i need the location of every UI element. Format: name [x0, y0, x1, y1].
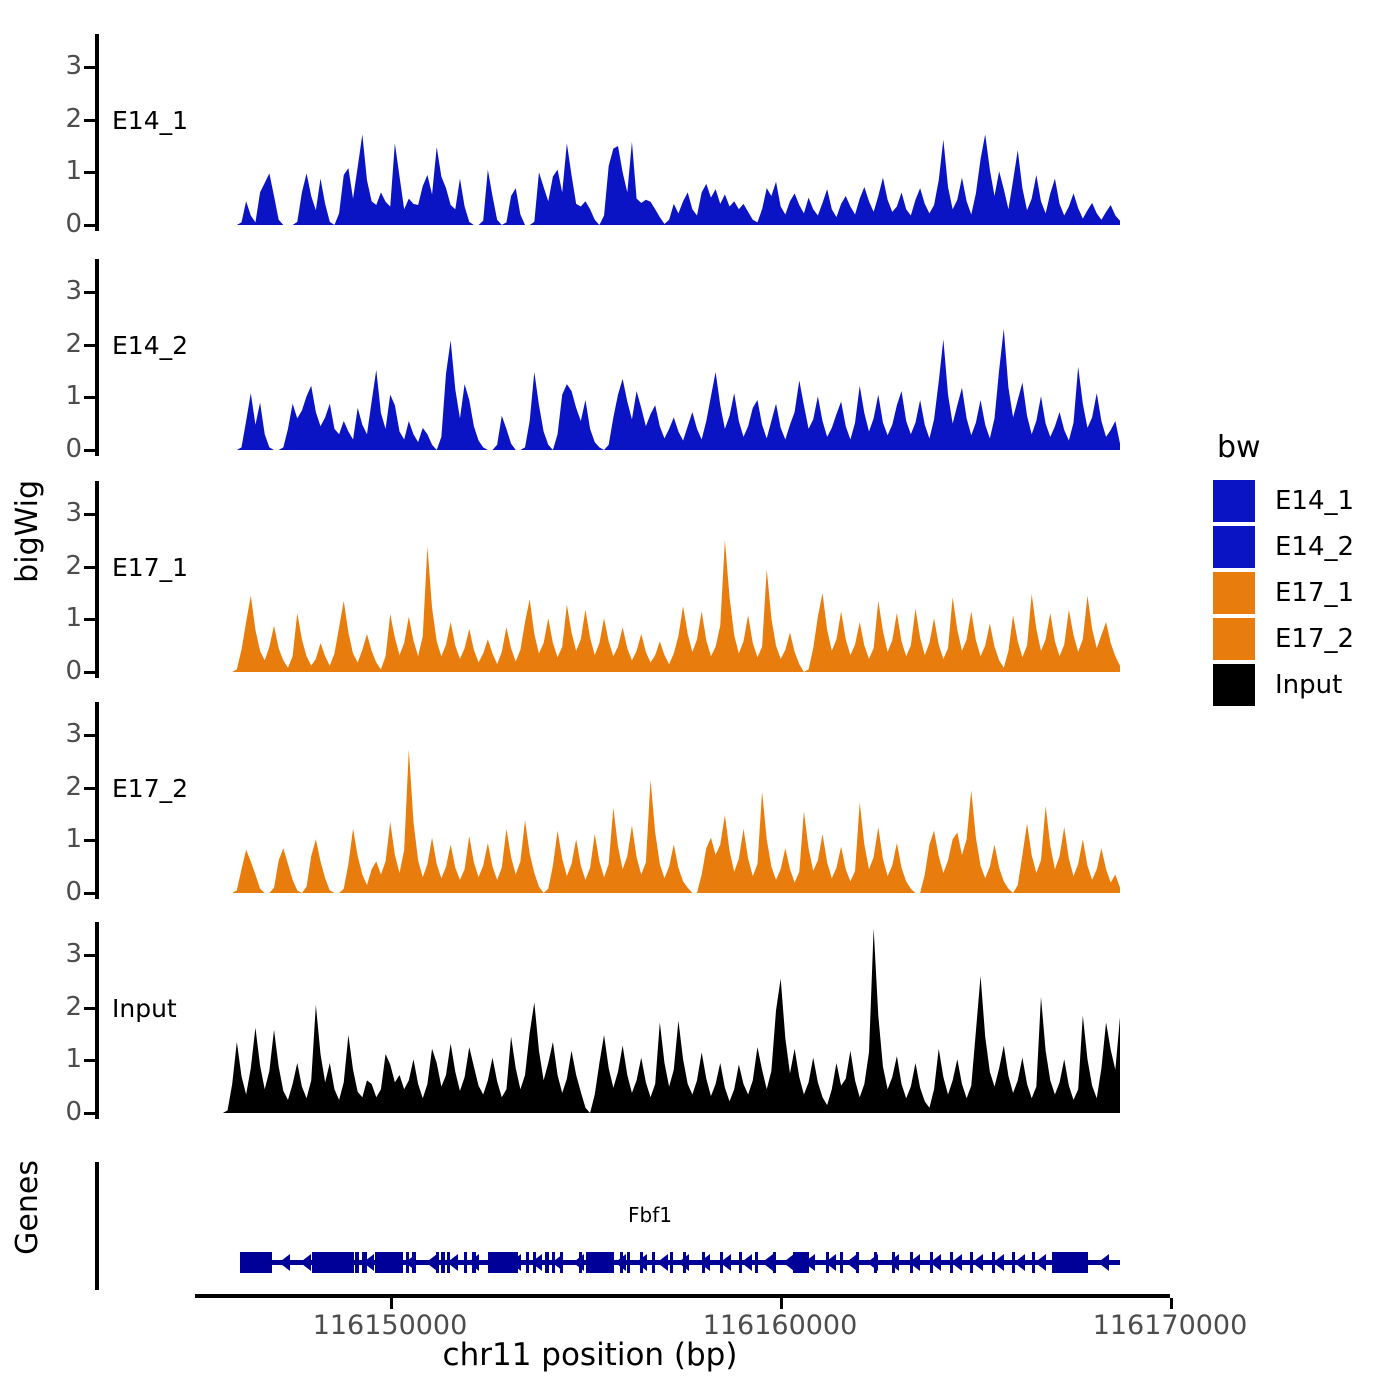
y-tick-label-e14_1-2: 2 [22, 106, 82, 132]
y-axis-title-bigwig: bigWig [10, 480, 45, 583]
y-tick-e14_2-3 [84, 291, 95, 294]
x-tick-116170000 [1170, 1298, 1173, 1309]
signal-track-e14_1[interactable] [195, 30, 1120, 229]
y-tick-e17_1-3 [84, 513, 95, 516]
x-tick-116160000 [780, 1298, 783, 1309]
gene-model-track[interactable] [240, 1246, 1120, 1284]
y-tick-e14_1-3 [84, 66, 95, 69]
legend-item-e14_1[interactable]: E14_1 [1213, 479, 1354, 523]
signal-track-e17_1[interactable] [195, 477, 1120, 676]
y-tick-label-e14_1-0: 0 [22, 211, 82, 237]
signal-track-input[interactable] [195, 918, 1120, 1117]
y-axis-line-input [95, 922, 99, 1119]
genes-axis-line [95, 1162, 99, 1290]
y-tick-e14_2-0 [84, 449, 95, 452]
legend: bw E14_1E14_2E17_1E17_2Input [1213, 430, 1354, 709]
y-tick-e14_2-2 [84, 344, 95, 347]
y-axis-title-genes: Genes [10, 1160, 45, 1255]
legend-label-e17_2: E17_2 [1275, 624, 1354, 654]
signal-area-e17_1 [195, 477, 1120, 676]
legend-label-e17_1: E17_1 [1275, 578, 1354, 608]
legend-swatch-e14_2 [1213, 526, 1255, 568]
y-tick-label-e17_2-2: 2 [22, 774, 82, 800]
signal-track-e14_2[interactable] [195, 255, 1120, 454]
y-tick-label-e17_1-1: 1 [22, 605, 82, 631]
x-tick-label-116160000: 116160000 [650, 1312, 910, 1339]
y-tick-e14_2-1 [84, 396, 95, 399]
legend-item-e17_1[interactable]: E17_1 [1213, 571, 1354, 615]
y-tick-label-e14_2-1: 1 [22, 383, 82, 409]
legend-swatch-e17_1 [1213, 572, 1255, 614]
x-tick-label-116150000: 116150000 [260, 1312, 520, 1339]
x-axis-title: chr11 position (bp) [0, 1337, 1180, 1373]
y-tick-e17_1-0 [84, 671, 95, 674]
gene-model-svg [240, 1246, 1120, 1280]
gene-label-fbf1: Fbf1 [550, 1203, 750, 1227]
legend-items: E14_1E14_2E17_1E17_2Input [1213, 479, 1354, 707]
y-axis-line-e17_2 [95, 702, 99, 899]
legend-swatch-e14_1 [1213, 480, 1255, 522]
legend-item-e14_2[interactable]: E14_2 [1213, 525, 1354, 569]
track-label-input: Input [112, 994, 177, 1023]
y-tick-label-e14_1-3: 3 [22, 53, 82, 79]
signal-area-input [195, 918, 1120, 1117]
y-tick-label-e14_2-0: 0 [22, 436, 82, 462]
legend-title: bw [1217, 430, 1354, 465]
y-tick-input-0 [84, 1112, 95, 1115]
track-label-e17_1: E17_1 [112, 553, 188, 582]
y-tick-label-e17_2-1: 1 [22, 826, 82, 852]
legend-label-input: Input [1275, 670, 1342, 700]
y-tick-e17_1-1 [84, 618, 95, 621]
y-tick-label-e17_1-0: 0 [22, 658, 82, 684]
y-tick-input-3 [84, 954, 95, 957]
x-tick-116150000 [390, 1298, 393, 1309]
y-tick-e14_1-2 [84, 119, 95, 122]
track-label-e17_2: E17_2 [112, 774, 188, 803]
y-tick-label-input-1: 1 [22, 1046, 82, 1072]
legend-label-e14_1: E14_1 [1275, 486, 1354, 516]
y-tick-input-2 [84, 1007, 95, 1010]
y-tick-label-e14_2-2: 2 [22, 331, 82, 357]
y-tick-e17_2-1 [84, 839, 95, 842]
y-tick-e17_2-3 [84, 734, 95, 737]
legend-label-e14_2: E14_2 [1275, 532, 1354, 562]
y-tick-label-input-3: 3 [22, 941, 82, 967]
y-tick-label-e17_2-3: 3 [22, 721, 82, 747]
track-label-e14_2: E14_2 [112, 331, 188, 360]
x-axis-line [195, 1294, 1170, 1298]
legend-swatch-input [1213, 664, 1255, 706]
y-axis-line-e17_1 [95, 481, 99, 678]
y-tick-input-1 [84, 1059, 95, 1062]
y-axis-line-e14_2 [95, 259, 99, 456]
y-tick-e17_2-0 [84, 892, 95, 895]
signal-area-e14_2 [195, 255, 1120, 454]
signal-area-e17_2 [195, 698, 1120, 897]
y-tick-e14_1-1 [84, 171, 95, 174]
signal-track-e17_2[interactable] [195, 698, 1120, 897]
y-tick-e14_1-0 [84, 224, 95, 227]
legend-swatch-e17_2 [1213, 618, 1255, 660]
y-tick-label-input-0: 0 [22, 1099, 82, 1125]
y-tick-label-input-2: 2 [22, 994, 82, 1020]
track-label-e14_1: E14_1 [112, 106, 188, 135]
y-axis-line-e14_1 [95, 34, 99, 231]
legend-item-e17_2[interactable]: E17_2 [1213, 617, 1354, 661]
y-tick-e17_2-2 [84, 787, 95, 790]
figure-root: bigWig Genes 0123E14_10123E14_20123E17_1… [0, 0, 1400, 1400]
y-tick-e17_1-2 [84, 566, 95, 569]
x-tick-label-116170000: 116170000 [1040, 1312, 1300, 1339]
signal-area-e14_1 [195, 30, 1120, 229]
y-tick-label-e14_2-3: 3 [22, 278, 82, 304]
legend-item-input[interactable]: Input [1213, 663, 1354, 707]
y-tick-label-e14_1-1: 1 [22, 158, 82, 184]
y-tick-label-e17_2-0: 0 [22, 879, 82, 905]
